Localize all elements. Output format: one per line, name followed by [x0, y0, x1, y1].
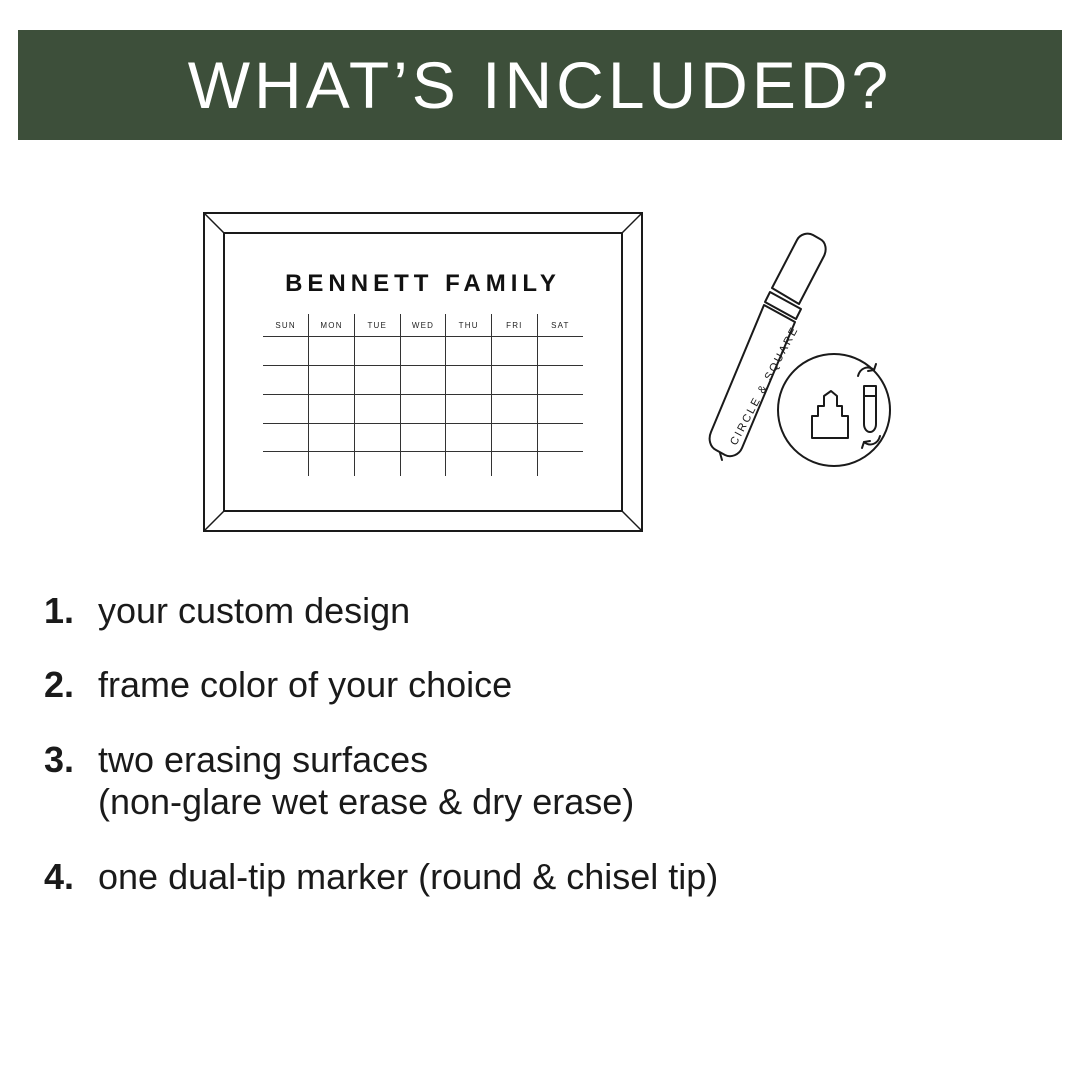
- list-item-number: 2.: [44, 664, 98, 706]
- list-item-number: 1.: [44, 590, 98, 632]
- arrow-top-icon: [858, 368, 874, 376]
- included-items-list: 1. your custom design 2. frame color of …: [44, 590, 1044, 930]
- calendar-cell: [400, 423, 446, 452]
- list-item-text: two erasing surfaces (non-glare wet eras…: [98, 739, 634, 824]
- calendar-cell: [537, 337, 583, 366]
- arrow-bottom-icon: [864, 436, 880, 444]
- weekday-header: WED: [400, 314, 446, 337]
- weekday-header: MON: [309, 314, 355, 337]
- calendar-cell: [446, 452, 492, 476]
- list-item-text: your custom design: [98, 590, 410, 632]
- list-item: 1. your custom design: [44, 590, 1044, 632]
- board-family-name: BENNETT FAMILY: [225, 270, 621, 298]
- calendar-cell: [354, 423, 400, 452]
- list-item-text: frame color of your choice: [98, 664, 512, 706]
- calendar-cell: [400, 394, 446, 423]
- list-item-number: 4.: [44, 856, 98, 898]
- weekday-header: THU: [446, 314, 492, 337]
- marker-cap: [772, 234, 826, 304]
- board-writing-surface: BENNETT FAMILY SUN MON TUE WED THU FRI S…: [223, 232, 623, 512]
- calendar-cell: [263, 423, 309, 452]
- calendar-cell: [309, 394, 355, 423]
- calendar-cell: [446, 365, 492, 394]
- calendar-board-illustration: BENNETT FAMILY SUN MON TUE WED THU FRI S…: [203, 212, 643, 532]
- calendar-cell: [492, 394, 538, 423]
- calendar-cell: [354, 365, 400, 394]
- calendar-week-row: [263, 452, 583, 476]
- weekday-header: FRI: [492, 314, 538, 337]
- calendar-week-row: [263, 365, 583, 394]
- calendar-cell: [537, 365, 583, 394]
- calendar-cell: [309, 365, 355, 394]
- calendar-cell: [354, 337, 400, 366]
- weekday-header: SAT: [537, 314, 583, 337]
- calendar-cell: [492, 423, 538, 452]
- calendar-header-row: SUN MON TUE WED THU FRI SAT: [263, 314, 583, 337]
- list-item: 3. two erasing surfaces (non-glare wet e…: [44, 739, 1044, 824]
- calendar-cell: [354, 394, 400, 423]
- page-title: WHAT’S INCLUDED?: [188, 52, 893, 118]
- calendar-cell: [446, 394, 492, 423]
- chisel-tip-icon: [812, 391, 848, 438]
- calendar-cell: [492, 365, 538, 394]
- weekday-header: SUN: [263, 314, 309, 337]
- calendar-cell: [263, 365, 309, 394]
- header-banner: WHAT’S INCLUDED?: [18, 30, 1062, 140]
- calendar-cell: [400, 365, 446, 394]
- calendar-grid: SUN MON TUE WED THU FRI SAT: [263, 314, 583, 476]
- calendar-cell: [354, 452, 400, 476]
- calendar-cell: [537, 452, 583, 476]
- list-item-number: 3.: [44, 739, 98, 781]
- calendar-cell: [537, 423, 583, 452]
- calendar-cell: [309, 452, 355, 476]
- marker-drawing: CIRCLE & SQUARE: [700, 210, 920, 540]
- list-item: 4. one dual-tip marker (round & chisel t…: [44, 856, 1044, 898]
- calendar-cell: [400, 452, 446, 476]
- calendar-week-row: [263, 394, 583, 423]
- calendar-cell: [446, 423, 492, 452]
- calendar-cell: [263, 452, 309, 476]
- calendar-week-row: [263, 337, 583, 366]
- marker-brand-text: CIRCLE & SQUARE: [728, 324, 801, 447]
- calendar-cell: [492, 337, 538, 366]
- weekday-header: TUE: [354, 314, 400, 337]
- calendar-cell: [446, 337, 492, 366]
- calendar-cell: [309, 337, 355, 366]
- product-illustration: BENNETT FAMILY SUN MON TUE WED THU FRI S…: [0, 170, 1080, 570]
- calendar-cell: [309, 423, 355, 452]
- calendar-week-row: [263, 423, 583, 452]
- round-tip-icon: [864, 386, 876, 432]
- marker-illustration: CIRCLE & SQUARE: [700, 210, 920, 540]
- calendar-cell: [400, 337, 446, 366]
- calendar-cell: [492, 452, 538, 476]
- calendar-cell: [263, 394, 309, 423]
- list-item-text: one dual-tip marker (round & chisel tip): [98, 856, 718, 898]
- list-item: 2. frame color of your choice: [44, 664, 1044, 706]
- calendar-cell: [263, 337, 309, 366]
- calendar-cell: [537, 394, 583, 423]
